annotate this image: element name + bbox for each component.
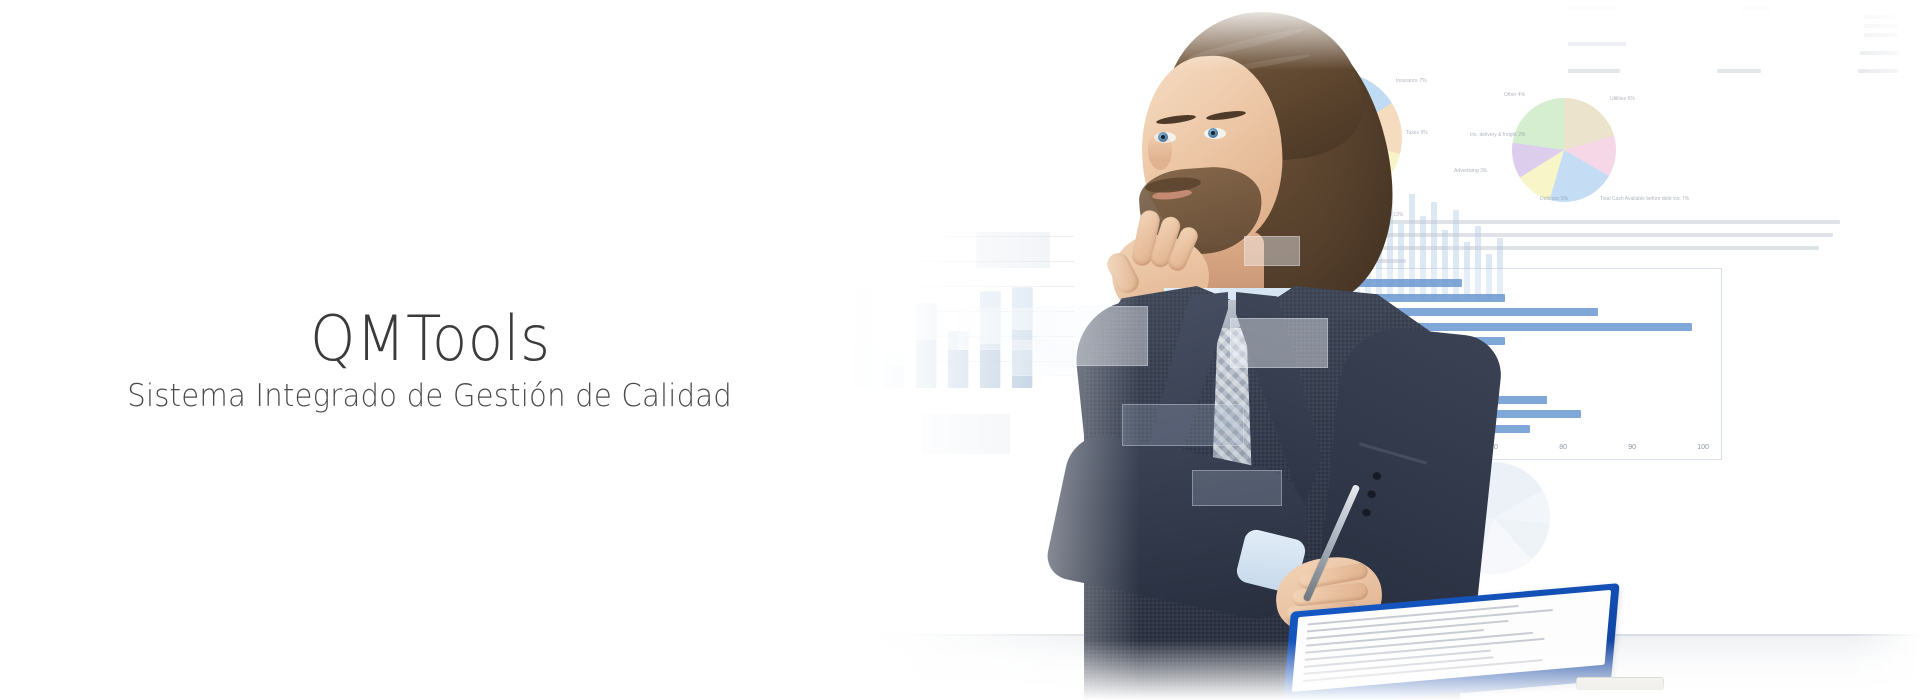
gridline [844, 236, 1074, 237]
bar [980, 292, 1000, 388]
bar [884, 354, 904, 388]
document-cell [1717, 69, 1761, 73]
document-cell [1864, 24, 1898, 28]
hero-banner: QMTools Sistema Integrado de Gestión de … [0, 0, 1920, 700]
bar-segment-upper [916, 304, 936, 340]
document-cell [1860, 51, 1898, 55]
pupil-right [1211, 131, 1215, 135]
bar [852, 288, 872, 388]
document-cell [1741, 6, 1771, 10]
clipboard-clip [1576, 677, 1664, 690]
bar-segment-lower [852, 346, 872, 388]
businessman-figure [1090, 0, 1690, 700]
document-cell [1858, 69, 1898, 73]
bar [948, 332, 968, 388]
photo-right-fade [1850, 0, 1920, 700]
hero-photo: Insurance 7%Taxes 9%Repairs & maintenanc… [840, 0, 1920, 700]
pupil-left [1161, 135, 1165, 139]
axis-tick-label: 100 [1697, 444, 1709, 451]
vertical-stacked-bar-chart [844, 228, 1074, 388]
document-cell [1864, 15, 1898, 19]
bar-segment-upper [1012, 288, 1032, 330]
document-cell [1864, 33, 1898, 37]
bar-segment-upper [980, 292, 1000, 344]
bar-segment-upper [948, 332, 968, 350]
bar-chart-bars [852, 238, 1032, 388]
bar-segment-lower [884, 366, 904, 388]
glass-panel [922, 414, 1010, 454]
bar-segment-lower [1012, 330, 1032, 388]
bar-segment-lower [980, 344, 1000, 388]
bar [916, 304, 936, 388]
bar-segment-lower [948, 350, 968, 388]
bar [1012, 288, 1032, 388]
bar-segment-lower [916, 340, 936, 388]
bar-segment-upper [852, 288, 872, 346]
bar-segment-upper [884, 354, 904, 366]
page-subtitle: Sistema Integrado de Gestión de Calidad [128, 378, 733, 414]
page-title: QMTools [310, 306, 550, 371]
hero-text-block: QMTools Sistema Integrado de Gestión de … [0, 0, 860, 700]
